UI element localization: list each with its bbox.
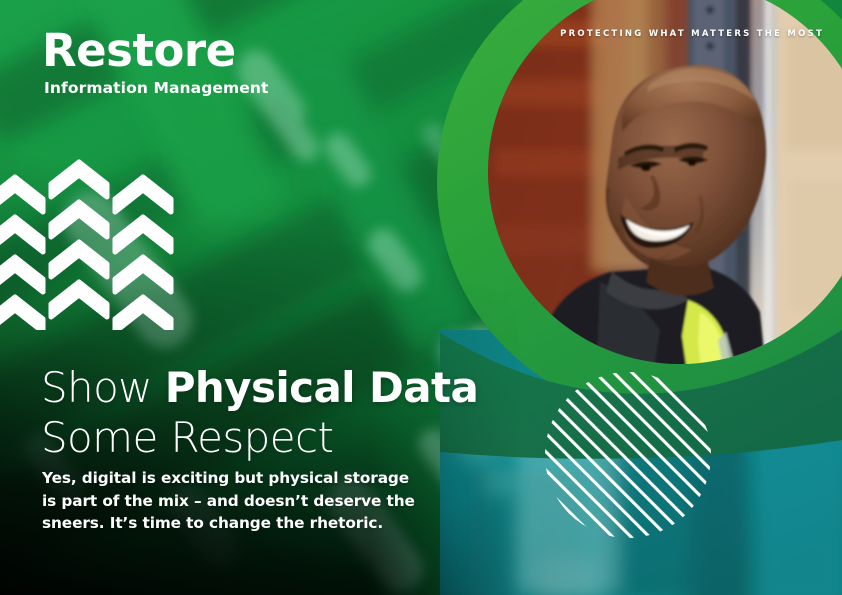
page-subtitle-line-2: is part of the mix – and doesn’t deserve…	[42, 490, 442, 513]
page-subtitle-line-1: Yes, digital is exciting but physical st…	[42, 467, 442, 490]
cover-content: Restore Information Management PROTECTIN…	[0, 0, 842, 595]
page-subtitle: Yes, digital is exciting but physical st…	[42, 467, 442, 535]
page-title-emphasis: Physical Data	[165, 363, 479, 412]
logo-subtitle: Information Management	[44, 79, 269, 97]
page-subtitle-line-3: sneers. It’s time to change the rhetoric…	[42, 512, 442, 535]
page-title-line-2: Some Respect	[41, 413, 478, 463]
logo-wordmark: Restore	[42, 27, 269, 75]
page-title-line-1: Show Physical Data	[41, 363, 478, 413]
page-title: Show Physical Data Some Respect	[41, 363, 478, 463]
brand-logo[interactable]: Restore Information Management	[42, 27, 269, 97]
brand-tagline: PROTECTING WHAT MATTERS THE MOST	[560, 29, 824, 39]
cover-page: Restore Information Management PROTECTIN…	[0, 0, 842, 595]
page-title-plain: Show	[41, 363, 165, 412]
